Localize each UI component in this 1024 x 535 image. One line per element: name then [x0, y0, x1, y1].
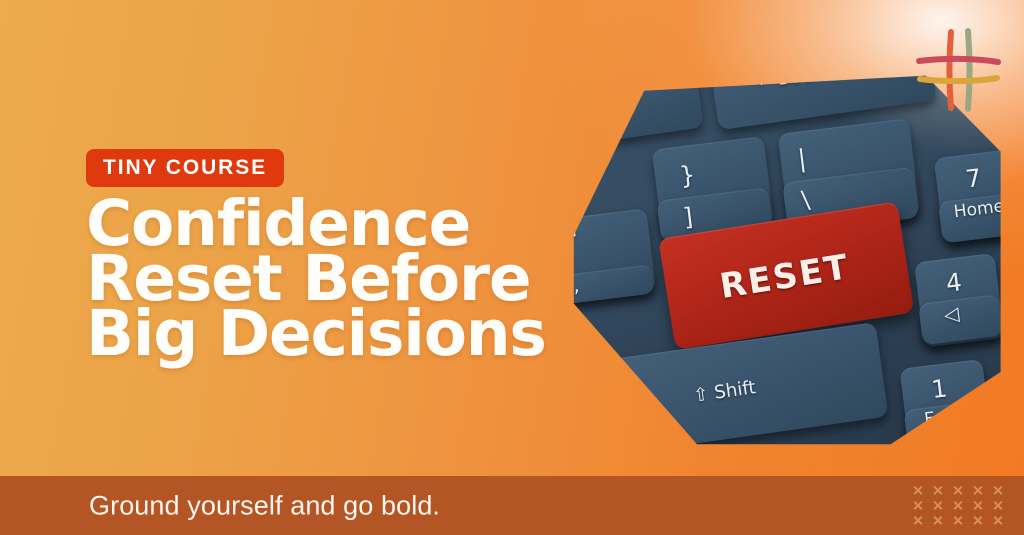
- keyboard-key-label-numpad-4: 4: [944, 267, 963, 298]
- keyboard-key-label-shift: ⇧ Shift: [692, 376, 757, 406]
- x-mark: ✕: [948, 498, 968, 513]
- x-mark: ✕: [968, 483, 988, 498]
- x-mark: ✕: [928, 483, 948, 498]
- footer-bar: Ground yourself and go bold. ✕✕✕✕✕✕✕✕✕✕✕…: [0, 476, 1024, 535]
- x-mark: ✕: [968, 498, 988, 513]
- page-title: Confidence Reset Before Big Decisions: [86, 196, 546, 361]
- headline-line-3: Big Decisions: [86, 306, 546, 361]
- x-mark: ✕: [968, 513, 988, 528]
- x-mark: ✕: [988, 513, 1008, 528]
- keyboard-key-label-numpad-home: Home: [953, 197, 1005, 223]
- keyboard-key-label-reset: RESET: [717, 246, 852, 306]
- keyboard-key-label-numpad-left: ◁: [943, 302, 961, 327]
- keyboard-key-numpad-1: 1: [900, 359, 993, 448]
- keyboard-key-label-numpad-7: 7: [964, 163, 983, 194]
- x-mark: ✕: [988, 498, 1008, 513]
- x-mark: ✕: [928, 513, 948, 528]
- keyboard-key-label-equals: =: [609, 81, 628, 106]
- keyboard-key-label-bracket: ]: [681, 202, 694, 232]
- subtitle-text: Ground yourself and go bold.: [89, 490, 440, 521]
- keyboard-photo-surface: =← Backspace}]|\",RESET7Home4◁⇧ Shift1En…: [565, 68, 1005, 448]
- keyboard-key-label-numpad-1: 1: [930, 373, 949, 404]
- course-promo-banner: =← Backspace}]|\",RESET7Home4◁⇧ Shift1En…: [0, 0, 1024, 535]
- keyboard-key-shift: ⇧ Shift: [597, 322, 888, 448]
- logo-stroke-horizontal-bottom: [920, 78, 997, 81]
- x-mark: ✕: [948, 513, 968, 528]
- keyboard-reset-key-photo: =← Backspace}]|\",RESET7Home4◁⇧ Shift1En…: [565, 68, 1005, 448]
- x-mark: ✕: [908, 513, 928, 528]
- logo-stroke-vertical-left: [950, 32, 952, 108]
- keyboard-key-label-backslash: \: [800, 185, 812, 215]
- keyboard-key-label-comma: ,: [571, 273, 580, 297]
- x-mark: ✕: [908, 483, 928, 498]
- keyboard-key-label-numpad-end: End: [923, 406, 958, 429]
- keyboard-key-label-backspace: ← Backspace: [755, 68, 876, 93]
- keyboard-key-label-quote-brace: }: [678, 159, 697, 190]
- keyboard-key-equals: =: [587, 68, 704, 142]
- x-pattern-decoration: ✕✕✕✕✕✕✕✕✕✕✕✕✕✕✕: [908, 483, 1008, 528]
- tiny-course-badge: TINY COURSE: [86, 149, 284, 187]
- keyboard-key-numpad-home: Home: [938, 193, 1005, 244]
- x-mark: ✕: [928, 498, 948, 513]
- logo-stroke-horizontal-top: [919, 59, 998, 62]
- keyboard-key-label-apostrophe: ": [567, 227, 579, 251]
- asterisk-hash-logo: [910, 22, 1006, 118]
- x-mark: ✕: [948, 483, 968, 498]
- x-mark: ✕: [988, 483, 1008, 498]
- keyboard-key-label-pipe-slash: |: [796, 143, 808, 173]
- logo-stroke-vertical-right: [968, 31, 970, 109]
- x-mark: ✕: [908, 498, 928, 513]
